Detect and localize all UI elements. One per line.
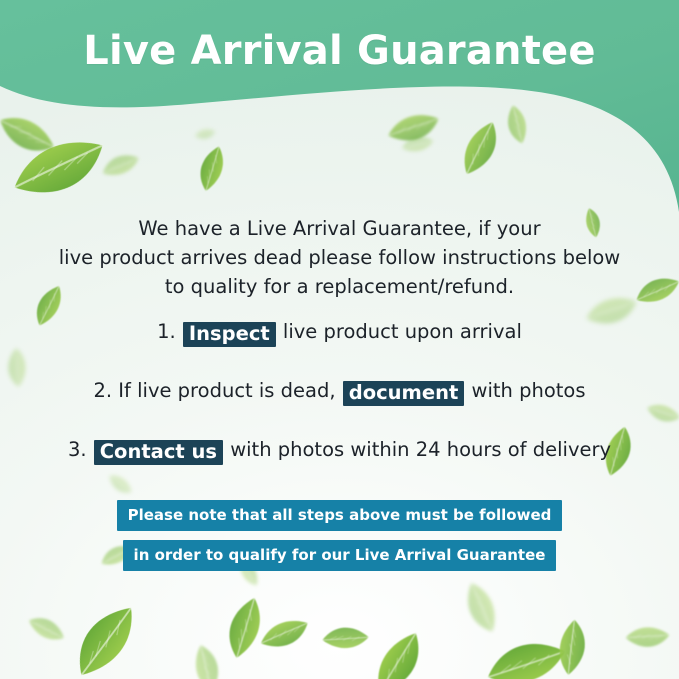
notice-banner: Please note that all steps above must be…	[0, 500, 679, 571]
step-highlight: Inspect	[183, 322, 276, 347]
step-highlight: Contact us	[94, 440, 223, 465]
step-text-before: If live product is dead,	[118, 379, 335, 402]
leaf-icon	[538, 614, 606, 679]
step-text-after: with photos within 24 hours of delivery	[230, 438, 611, 461]
step-highlight: document	[343, 381, 465, 406]
step-item: 2. If live product is dead, document wit…	[0, 379, 679, 406]
step-number: 1.	[157, 320, 176, 343]
leaf-icon	[178, 640, 235, 679]
step-text-after: with photos	[472, 379, 586, 402]
step-number: 3.	[68, 438, 87, 461]
leaf-icon	[452, 578, 511, 637]
leaf-icon	[64, 598, 147, 679]
leaf-icon	[318, 610, 374, 666]
leaf-icon	[480, 616, 573, 679]
leaf-icon	[620, 610, 674, 664]
notice-line-1: Please note that all steps above must be…	[117, 500, 563, 531]
leaf-icon	[256, 606, 312, 662]
steps-list: 1. Inspect live product upon arrival 2. …	[0, 320, 679, 497]
intro-line-1: We have a Live Arrival Guarantee, if you…	[0, 214, 679, 243]
intro-paragraph: We have a Live Arrival Guarantee, if you…	[0, 214, 679, 301]
leaf-icon	[25, 607, 69, 651]
step-text-after: live product upon arrival	[283, 320, 522, 343]
step-number: 2.	[93, 379, 112, 402]
leaf-icon	[361, 627, 434, 679]
step-item: 1. Inspect live product upon arrival	[0, 320, 679, 347]
step-item: 3. Contact us with photos within 24 hour…	[0, 438, 679, 465]
live-arrival-guarantee-card: Live Arrival Guarantee We have a Live Ar…	[0, 0, 679, 679]
leaf-icon	[208, 590, 282, 664]
page-title: Live Arrival Guarantee	[0, 28, 679, 74]
intro-line-2: live product arrives dead please follow …	[0, 243, 679, 272]
notice-line-2: in order to qualify for our Live Arrival…	[123, 540, 557, 571]
intro-line-3: to quality for a replacement/refund.	[0, 272, 679, 301]
